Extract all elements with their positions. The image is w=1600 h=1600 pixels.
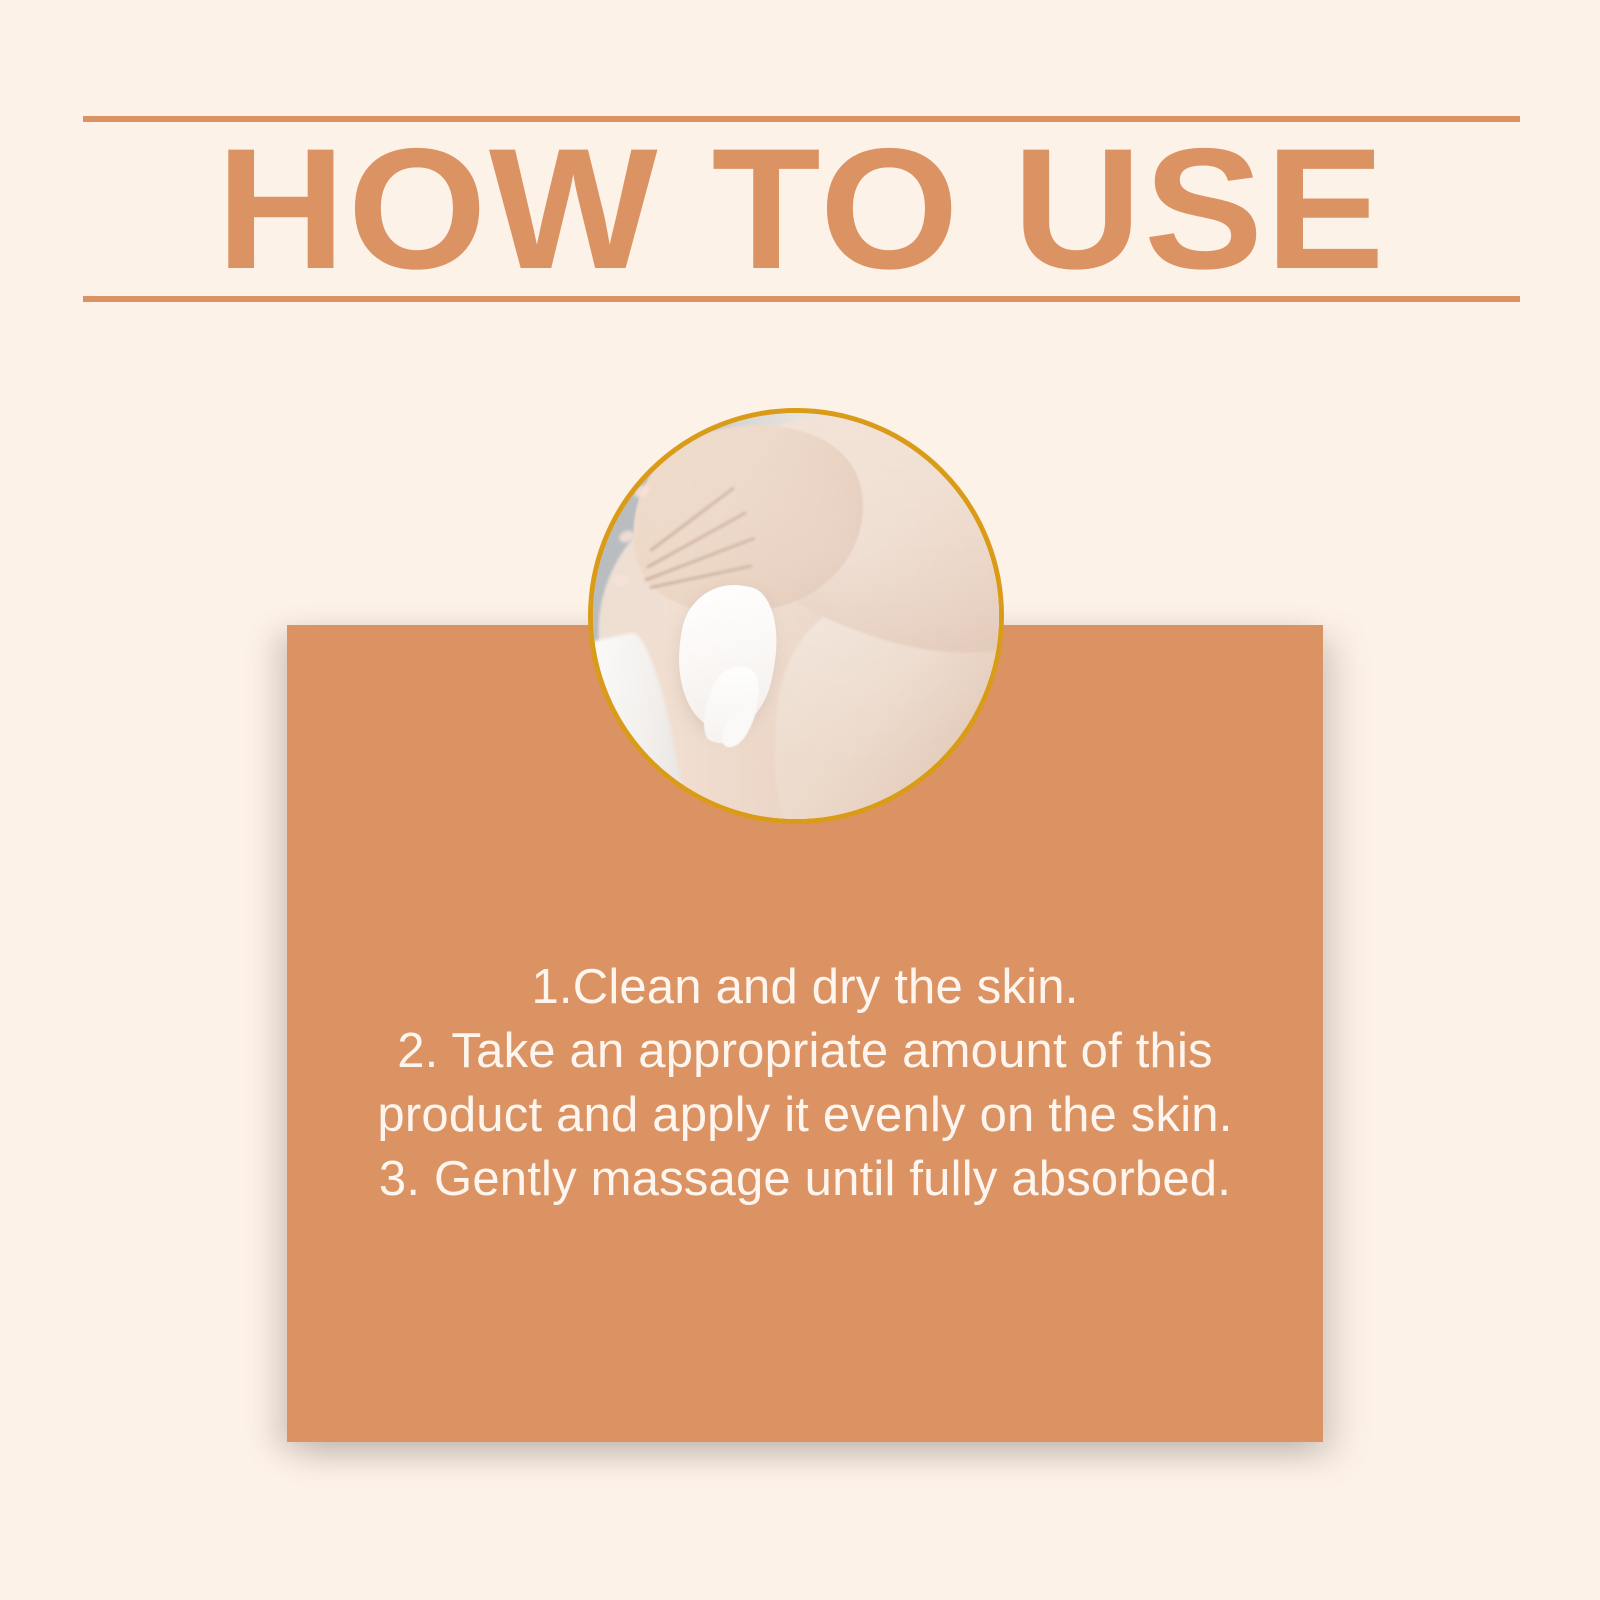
how-to-use-poster: HOW TO USE 1.Clean and dry the skin. 2. …: [0, 0, 1600, 1600]
step-line-2: 2. Take an appropriate amount of this: [287, 1019, 1323, 1083]
photo-image: [593, 413, 999, 819]
page-title: HOW TO USE: [54, 116, 1548, 302]
step-line-1: 1.Clean and dry the skin.: [287, 955, 1323, 1019]
photo-layer-highlight: [593, 413, 999, 819]
steps-list: 1.Clean and dry the skin. 2. Take an app…: [287, 955, 1323, 1211]
header-rule-bottom: [83, 296, 1520, 302]
header: HOW TO USE: [83, 116, 1520, 302]
step-line-4: 3. Gently massage until fully absorbed.: [287, 1147, 1323, 1211]
step-line-3: product and apply it evenly on the skin.: [287, 1083, 1323, 1147]
product-usage-photo: [588, 408, 1004, 824]
